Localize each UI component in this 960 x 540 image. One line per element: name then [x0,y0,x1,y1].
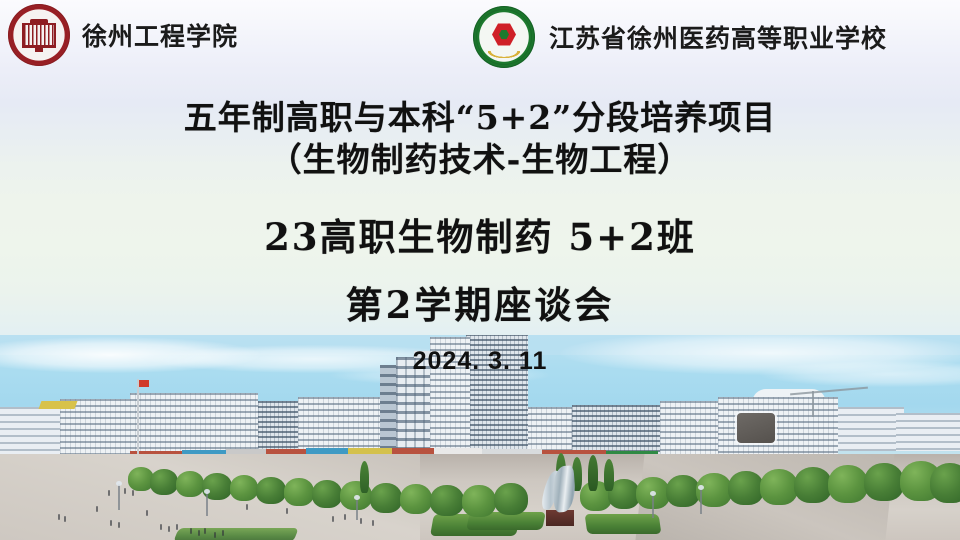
jiangsu-xuzhou-medical-school-seal-icon [473,6,535,68]
xuzhou-institute-of-technology-seal-icon [8,4,70,66]
street-lamp [700,488,702,514]
event-title: 第2学期座谈会 [0,275,960,329]
building [838,407,904,451]
hedge [585,514,662,534]
building [718,397,838,455]
roof-accent [39,401,78,409]
program-title-line-2: （生物制药技术-生物工程） [0,141,960,179]
header-left-label: 徐州工程学院 [82,17,238,53]
billboard-screen [737,413,775,443]
national-flag [139,380,149,387]
sculpture-pedestal [546,510,574,526]
event-date: 2024. 3. 11 [0,347,960,376]
header-left-brand: 徐州工程学院 [8,4,238,66]
header-right-label: 江苏省徐州医药高等职业学校 [549,19,887,55]
street-lamp [356,498,358,520]
header-right-brand: 江苏省徐州医药高等职业学校 [473,6,887,68]
street-lamp [206,492,208,516]
flagpole [137,379,139,461]
program-title-line-1: 五年制高职与本科“5+2”分段培养项目 [0,99,960,137]
slide-header: 徐州工程学院 江苏省徐州医药高等职业学校 [0,0,960,78]
building [660,401,720,455]
building [896,413,960,451]
construction-crane [812,391,814,417]
street-lamp [652,494,654,518]
hedge [173,528,299,540]
street-lamp [118,484,120,510]
class-title: 23高职生物制药 5+2班 [0,207,960,261]
presentation-slide: 徐州工程学院 江苏省徐州医药高等职业学校 五年制高职与本科“5+2”分段培养项目… [0,0,960,540]
